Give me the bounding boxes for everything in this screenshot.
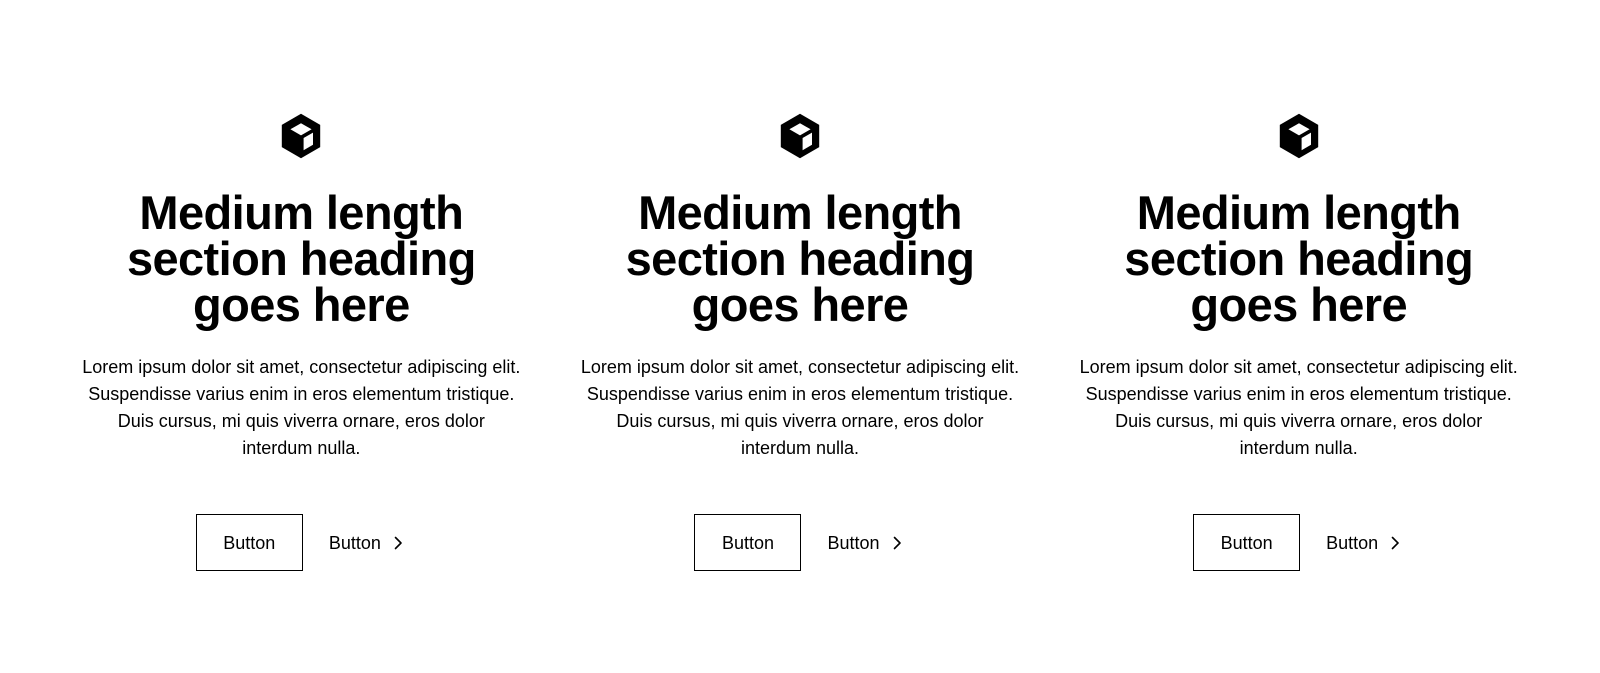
cube-icon [277, 112, 325, 160]
secondary-button-label: Button [827, 534, 879, 552]
feature-column-3: Medium length section heading goes here … [1073, 112, 1524, 571]
page-title: Medium length section heading goes here [1099, 190, 1499, 328]
cube-icon [776, 112, 824, 160]
feature-description: Lorem ipsum dolor sit amet, consectetur … [580, 354, 1020, 462]
page-title: Medium length section heading goes here [600, 190, 1000, 328]
secondary-button[interactable]: Button [1324, 514, 1404, 571]
feature-description: Lorem ipsum dolor sit amet, consectetur … [1079, 354, 1519, 462]
page-title: Medium length section heading goes here [101, 190, 501, 328]
button-row: Button Button [196, 514, 407, 571]
button-row: Button Button [694, 514, 905, 571]
secondary-button[interactable]: Button [327, 514, 407, 571]
button-row: Button Button [1193, 514, 1404, 571]
feature-columns: Medium length section heading goes here … [76, 112, 1524, 571]
chevron-right-icon [890, 534, 904, 552]
primary-button[interactable]: Button [694, 514, 801, 571]
secondary-button[interactable]: Button [825, 514, 905, 571]
chevron-right-icon [1388, 534, 1402, 552]
chevron-right-icon [391, 534, 405, 552]
feature-description: Lorem ipsum dolor sit amet, consectetur … [81, 354, 521, 462]
primary-button[interactable]: Button [196, 514, 303, 571]
feature-column-2: Medium length section heading goes here … [575, 112, 1026, 571]
cube-icon [1275, 112, 1323, 160]
feature-section: Medium length section heading goes here … [0, 0, 1600, 673]
feature-column-1: Medium length section heading goes here … [76, 112, 527, 571]
secondary-button-label: Button [329, 534, 381, 552]
primary-button[interactable]: Button [1193, 514, 1300, 571]
secondary-button-label: Button [1326, 534, 1378, 552]
